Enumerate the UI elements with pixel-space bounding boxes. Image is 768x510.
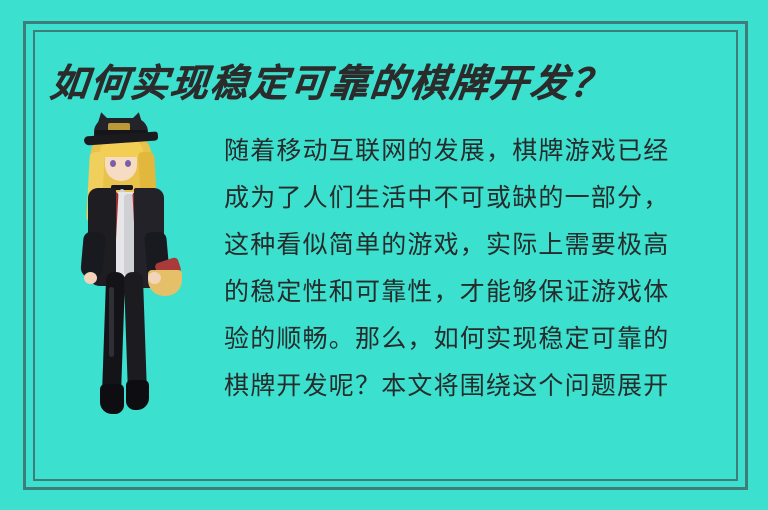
hand-right [148, 272, 161, 284]
body-line: 这种看似简单的游戏，实际上需要极高 [224, 221, 724, 268]
poster-canvas: 如何实现稳定可靠的棋牌开发？ 随着移动 [0, 0, 768, 510]
body-paragraph: 随着移动互联网的发展，棋牌游戏已经 成为了人们生活中不可或缺的一部分， 这种看似… [224, 127, 724, 417]
boot-right [126, 380, 149, 410]
leggings-highlight [109, 287, 114, 357]
page-title: 如何实现稳定可靠的棋牌开发？ [47, 58, 672, 110]
body-line: 随着移动互联网的发展，棋牌游戏已经 [224, 127, 724, 174]
body-line: 棋牌开发呢？本文将围绕这个问题展开 [224, 362, 724, 409]
eye-left [110, 160, 116, 167]
boot-left [100, 384, 124, 414]
body-line: 验的顺畅。那么，如何实现稳定可靠的 [224, 315, 724, 362]
character-illustration [78, 112, 194, 417]
eye-right [125, 160, 131, 167]
hand-left [84, 272, 97, 284]
body-line: 的稳定性和可靠性，才能够保证游戏体 [224, 268, 724, 315]
body-line: 成为了人们生活中不可或缺的一部分， [224, 174, 724, 221]
